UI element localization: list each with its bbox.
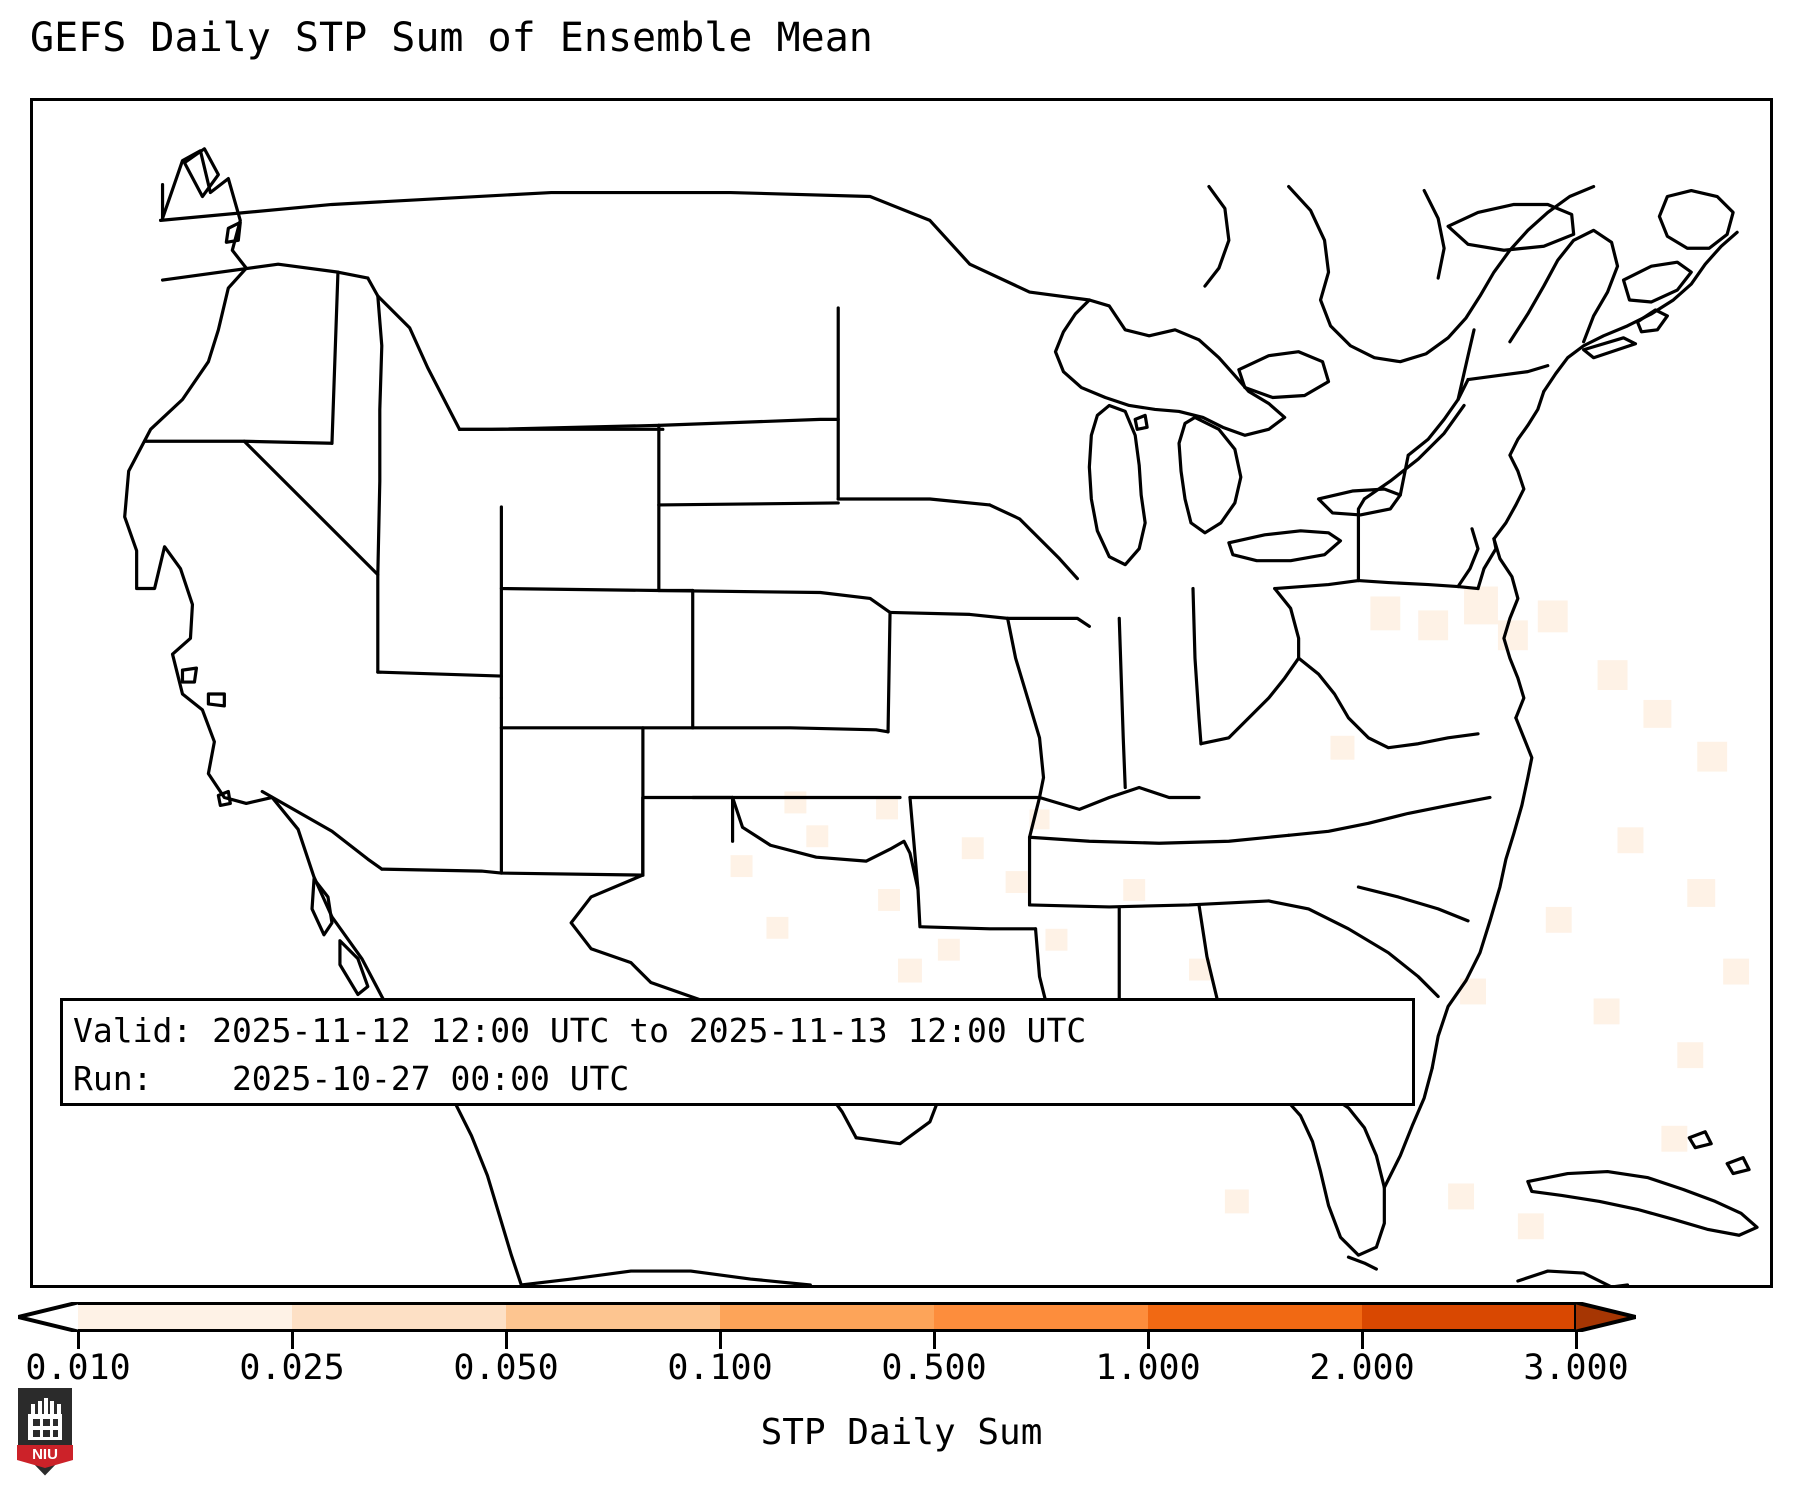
state-border-ca-nv (244, 441, 378, 574)
geography-layer (125, 149, 1757, 1285)
coastline-florida (1285, 1088, 1385, 1255)
baja-a (312, 879, 332, 935)
hudson-tail (1205, 187, 1229, 286)
state-border-va-md (1478, 539, 1496, 589)
coastline-pacific (125, 151, 272, 804)
coastline-newfoundland (1659, 191, 1733, 249)
state-border-ne-me (1468, 366, 1548, 380)
state-border-id-nv-ut (368, 278, 382, 672)
lake-erie (1229, 531, 1341, 561)
stp-grid-cell (766, 917, 788, 939)
coastline-northeast (1544, 232, 1737, 391)
state-border-mt-nd-sd (659, 419, 838, 425)
logo-text: NIU (32, 1446, 58, 1463)
stp-grid-cell (1546, 907, 1572, 933)
channel-islands-b (208, 694, 224, 706)
state-border-ky-tn (1030, 835, 1289, 843)
state-border-or-id (332, 272, 338, 443)
colorbar-gradient (78, 1302, 1576, 1332)
stp-grid-cell (1697, 742, 1727, 772)
stp-grid-cell (1594, 998, 1620, 1024)
state-border-ky-va-wv (1201, 658, 1299, 744)
state-border-nd-sd (659, 503, 838, 505)
colorbar-band-1 (292, 1305, 506, 1329)
run-time-line: Run: 2025-10-27 00:00 UTC (73, 1055, 1412, 1103)
stp-grid-cell (1538, 600, 1568, 632)
colorbar-tick-7 (1575, 1332, 1578, 1349)
lake-superior (1055, 300, 1284, 435)
stp-grid-cell (1518, 1213, 1544, 1239)
state-border-ar-la (922, 927, 1036, 929)
colorbar-tick-label-6: 2.000 (1309, 1348, 1414, 1388)
colorbar-tick-1 (291, 1332, 294, 1349)
mexico-south (521, 1271, 810, 1285)
stp-grid-cell (938, 939, 960, 961)
coastline-chesapeake (1494, 392, 1544, 539)
cape-cod (1637, 310, 1667, 332)
florida-keys (1348, 1257, 1376, 1269)
colorbar-axis-label: STP Daily Sum (0, 1412, 1803, 1453)
stp-grid-cell (1418, 610, 1448, 640)
colorbar-tick-label-5: 1.000 (1095, 1348, 1200, 1388)
cuba (1528, 1172, 1757, 1236)
state-border-wv-va (1299, 658, 1478, 748)
state-border-wi-ia-il (1008, 618, 1090, 626)
colorbar-tick-5 (1147, 1332, 1150, 1349)
stp-grid-cell (962, 837, 984, 859)
stp-grid-cell (731, 855, 753, 877)
state-border-ia-il-river (1008, 618, 1044, 797)
stp-grid-cell (1331, 736, 1355, 760)
state-border-pa-ny (1358, 499, 1364, 581)
colorbar-band-5 (1148, 1305, 1362, 1329)
map-svg (33, 101, 1770, 1285)
colorbar-band-4 (934, 1305, 1148, 1329)
state-border-ut-az-nm (382, 869, 643, 875)
stp-grid-cell (1498, 620, 1528, 650)
state-border-nc-sc-ga (1269, 901, 1438, 997)
state-border-vt-nh (1458, 330, 1474, 400)
state-border-il-ky (1040, 788, 1199, 810)
state-border-ny-ne (1400, 455, 1408, 495)
state-border-oh-pa (1275, 581, 1359, 589)
stp-grid-cell (1370, 596, 1400, 630)
stp-grid-cell (784, 792, 806, 814)
state-border-ca-az (262, 792, 382, 870)
stp-grid-cell (1598, 660, 1628, 690)
colorbar-tick-label-1: 0.025 (239, 1348, 344, 1388)
state-border-ks-mo-east (888, 612, 890, 731)
colorbar-tick-label-0: 0.010 (25, 1348, 130, 1388)
us-canada-border (161, 193, 1090, 300)
nova-scotia (1624, 262, 1692, 302)
stp-grid-cell (898, 959, 922, 983)
bahamas-a (1689, 1132, 1711, 1148)
page-title: GEFS Daily STP Sum of Ensemble Mean (30, 18, 873, 58)
state-border-nv-ut-south (378, 672, 502, 698)
colorbar-tick-label-4: 0.500 (881, 1348, 986, 1388)
colorbar-tick-label-2: 0.050 (453, 1348, 558, 1388)
colorbar-tick-label-7: 3.000 (1523, 1348, 1628, 1388)
canada-line-a (1424, 191, 1444, 279)
stp-grid-cell (1677, 1042, 1703, 1068)
stp-grid-cell (806, 825, 828, 847)
state-border-pa-nj (1458, 529, 1478, 587)
colorbar-band-2 (506, 1305, 720, 1329)
colorbar-tick-3 (719, 1332, 722, 1349)
colorbar-tick-0 (77, 1332, 80, 1349)
map-plot-area (30, 98, 1773, 1288)
state-border-nm-tx-2 (643, 797, 733, 875)
state-border-tn-nc (1289, 797, 1490, 835)
canada-lake-b (1448, 204, 1574, 250)
coastline-atlantic (1432, 718, 1532, 1068)
forecast-info-box: Valid: 2025-11-12 12:00 UTC to 2025-11-1… (60, 998, 1415, 1106)
valid-time-line: Valid: 2025-11-12 12:00 UTC to 2025-11-1… (73, 1007, 1412, 1055)
state-border-ne-ks (693, 728, 888, 732)
lake-michigan-isles (1135, 415, 1147, 429)
niu-logo: NIU (14, 1384, 76, 1480)
yucatan (1518, 1271, 1628, 1285)
colorbar-band-3 (720, 1305, 934, 1329)
stp-grid-cell (1687, 879, 1715, 907)
colorbar-band-6 (1362, 1305, 1576, 1329)
stp-grid-cell (1618, 827, 1644, 853)
state-border-wv-oh (1275, 589, 1299, 659)
state-border-in-oh (1193, 589, 1201, 744)
lake-huron (1179, 417, 1241, 532)
state-border-mn-ia (838, 499, 989, 505)
stp-grid-cell (1661, 1126, 1687, 1152)
colorbar-over-arrow (1574, 1302, 1636, 1332)
coastline-canada-east (1289, 187, 1594, 362)
state-border-il-in (1119, 618, 1125, 787)
stp-grid-cell (1464, 587, 1498, 625)
state-border-sc-nc (1358, 887, 1468, 921)
stp-grid-cell (1046, 929, 1068, 951)
stp-grid-cell (1123, 879, 1145, 901)
colorbar-tick-4 (933, 1332, 936, 1349)
colorbar-tick-6 (1361, 1332, 1364, 1349)
channel-islands-a (182, 668, 196, 682)
state-border-mt-id (378, 296, 460, 429)
colorbar-band-0 (78, 1305, 292, 1329)
stp-grid-cell (1006, 871, 1028, 893)
state-border-ia-mo (890, 612, 1008, 618)
stp-grid-cell (1723, 959, 1749, 985)
colorbar-tick-2 (505, 1332, 508, 1349)
stp-grid-cell (876, 797, 898, 819)
stp-grid-cell (1225, 1189, 1249, 1213)
state-border-tn-ms-al-ga (1030, 901, 1269, 907)
colorbar-under-arrow (18, 1302, 80, 1332)
bahamas-b (1727, 1158, 1749, 1174)
stp-grid-cell (1643, 700, 1671, 728)
colorbar-tick-label-3: 0.100 (667, 1348, 772, 1388)
stp-grid-cell (1448, 1184, 1474, 1210)
state-border-or-ca (145, 441, 332, 443)
colorbar (0, 1296, 1803, 1356)
canada-lake-a (1239, 352, 1329, 398)
state-border-mn-wi (990, 505, 1078, 579)
stp-grid-cell (878, 889, 900, 911)
